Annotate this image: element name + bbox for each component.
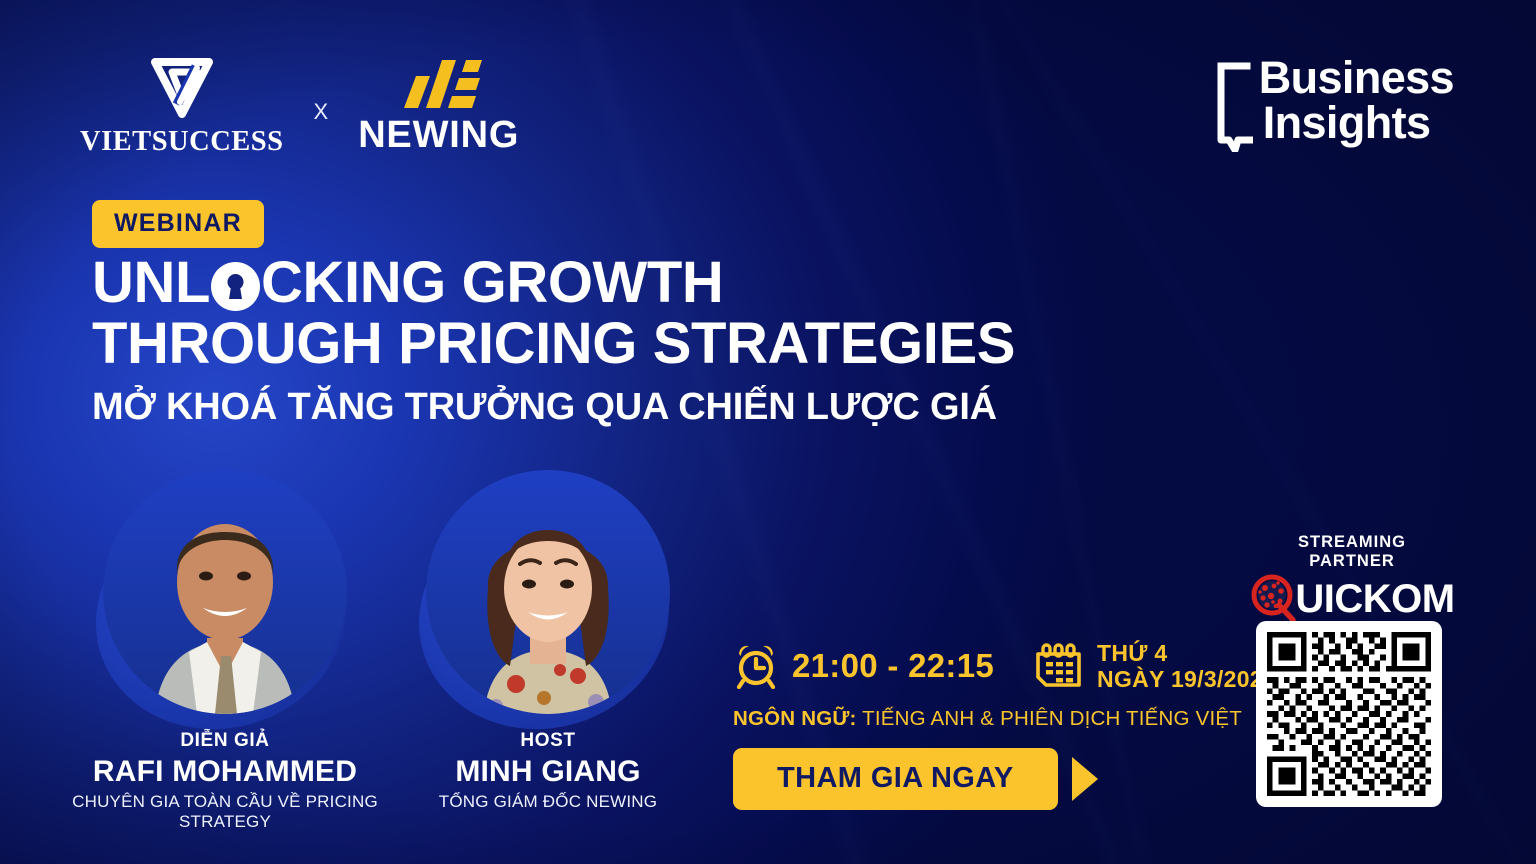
event-time-text: 21:00 - 22:15 <box>792 647 994 685</box>
event-time: 21:00 - 22:15 <box>733 643 994 689</box>
speaker-description: CHUYÊN GIA TOÀN CẦU VỀ PRICING STRATEGY <box>30 792 420 832</box>
avatar <box>103 470 347 714</box>
speaker-photo-wrap <box>103 470 347 714</box>
page-subtitle: MỞ KHOÁ TĂNG TRƯỞNG QUA CHIẾN LƯỢC GIÁ <box>92 386 997 429</box>
speech-bubble-bracket-icon <box>1213 60 1253 152</box>
qr-code-icon[interactable] <box>1267 632 1431 796</box>
vietsuccess-wordmark: VIETSUCCESS <box>80 126 284 158</box>
vietsuccess-diamond-icon <box>145 52 219 124</box>
event-date: THỨ 4 NGÀY 19/3/2025 <box>1034 640 1276 692</box>
speaker-portrait-icon <box>103 470 347 714</box>
bi-line-2: Insights <box>1263 101 1454 146</box>
newing-wordmark: NEWING <box>358 114 519 157</box>
vietsuccess-logo: VIETSUCCESS <box>80 52 284 158</box>
host-name: MINH GIANG <box>368 755 728 789</box>
calendar-icon <box>1034 642 1084 690</box>
language-value: TIẾNG ANH & PHIÊN DỊCH TIẾNG VIỆT <box>862 707 1242 730</box>
speaker-card-minh-giang: HOST MINH GIANG TỔNG GIÁM ĐỐC NEWING <box>368 470 728 812</box>
event-info: 21:00 - 22:15 THỨ 4 NGÀY 19/3/202 <box>733 640 1276 731</box>
newing-bars-icon <box>396 54 482 108</box>
host-photo-wrap <box>426 470 670 714</box>
business-insights-wordmark: Business Insights <box>1259 56 1454 145</box>
event-day-month-year: NGÀY 19/3/2025 <box>1097 666 1276 692</box>
avatar <box>426 470 670 714</box>
page-title: UNL CKING GROWTH THROUGH PRICING STRATEG… <box>92 252 1015 375</box>
quickom-logo: UICKOM <box>1254 573 1450 625</box>
streaming-partner-label: STREAMING PARTNER <box>1254 533 1450 571</box>
logo-separator-x: X <box>314 99 329 125</box>
title-line-2: THROUGH PRICING STRATEGIES <box>92 313 1015 374</box>
cta-row: THAM GIA NGAY <box>733 748 1098 810</box>
speaker-card-rafi-mohammed: DIỄN GIẢ RAFI MOHAMMED CHUYÊN GIA TOÀN C… <box>30 470 420 832</box>
title-line-1-prefix: UNL <box>92 252 210 313</box>
speaker-name: RAFI MOHAMMED <box>30 755 420 789</box>
keyhole-o-icon <box>211 262 260 311</box>
host-role: HOST <box>368 730 728 752</box>
speaker-role: DIỄN GIẢ <box>30 730 420 752</box>
alarm-clock-icon <box>733 643 779 689</box>
streaming-partner: STREAMING PARTNER UICKOM <box>1254 533 1450 625</box>
event-date-text: THỨ 4 NGÀY 19/3/2025 <box>1097 640 1276 692</box>
business-insights-logo: Business Insights <box>1213 56 1454 152</box>
play-arrow-icon[interactable] <box>1072 757 1098 801</box>
qr-code-card[interactable] <box>1256 621 1442 807</box>
title-line-1: UNL CKING GROWTH <box>92 252 1015 313</box>
quickom-wordmark: UICKOM <box>1295 577 1454 622</box>
quickom-q-icon <box>1249 573 1301 625</box>
bi-line-1: Business <box>1259 56 1454 101</box>
header-logos: VIETSUCCESS X NEWING <box>80 52 519 158</box>
newing-logo: NEWING <box>358 54 519 157</box>
event-info-row: 21:00 - 22:15 THỨ 4 NGÀY 19/3/202 <box>733 640 1276 692</box>
webinar-badge: WEBINAR <box>92 200 264 248</box>
event-weekday: THỨ 4 <box>1097 640 1276 666</box>
host-portrait-icon <box>426 470 670 714</box>
event-language: NGÔN NGỮ: TIẾNG ANH & PHIÊN DỊCH TIẾNG V… <box>733 707 1276 731</box>
host-description: TỔNG GIÁM ĐỐC NEWING <box>368 792 728 812</box>
title-line-1-suffix: CKING GROWTH <box>261 252 723 313</box>
language-label: NGÔN NGỮ: <box>733 707 857 730</box>
join-now-button[interactable]: THAM GIA NGAY <box>733 748 1058 810</box>
webinar-banner: VIETSUCCESS X NEWING Business Insights W… <box>0 0 1536 864</box>
